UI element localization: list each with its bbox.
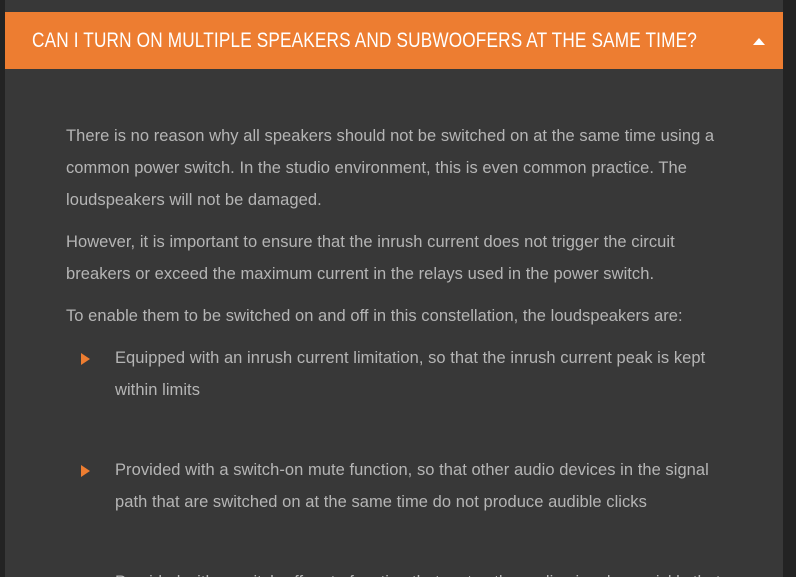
body-paragraph: However, it is important to ensure that … [66,226,738,290]
accordion-header[interactable]: CAN I TURN ON MULTIPLE SPEAKERS AND SUBW… [5,12,783,69]
accordion-title: CAN I TURN ON MULTIPLE SPEAKERS AND SUBW… [32,12,697,69]
list-item: Provided with a switch-off mute function… [5,566,783,577]
triangle-right-icon [81,465,90,477]
list-item-label: Provided with a switch-on mute function,… [115,454,738,518]
accordion-body: There is no reason why all speakers shou… [5,69,783,577]
chevron-up-icon[interactable] [753,38,765,45]
list-item: Equipped with an inrush current limitati… [5,342,783,406]
list-item-label: Equipped with an inrush current limitati… [115,342,738,406]
body-paragraph: To enable them to be switched on and off… [66,300,738,332]
triangle-right-icon [81,353,90,365]
list-item: Provided with a switch-on mute function,… [5,454,783,518]
list-item-label: Provided with a switch-off mute function… [115,566,738,577]
body-paragraph: There is no reason why all speakers shou… [66,120,742,216]
accordion-panel: CAN I TURN ON MULTIPLE SPEAKERS AND SUBW… [5,0,783,577]
bullet-list: Equipped with an inrush current limitati… [5,342,783,577]
